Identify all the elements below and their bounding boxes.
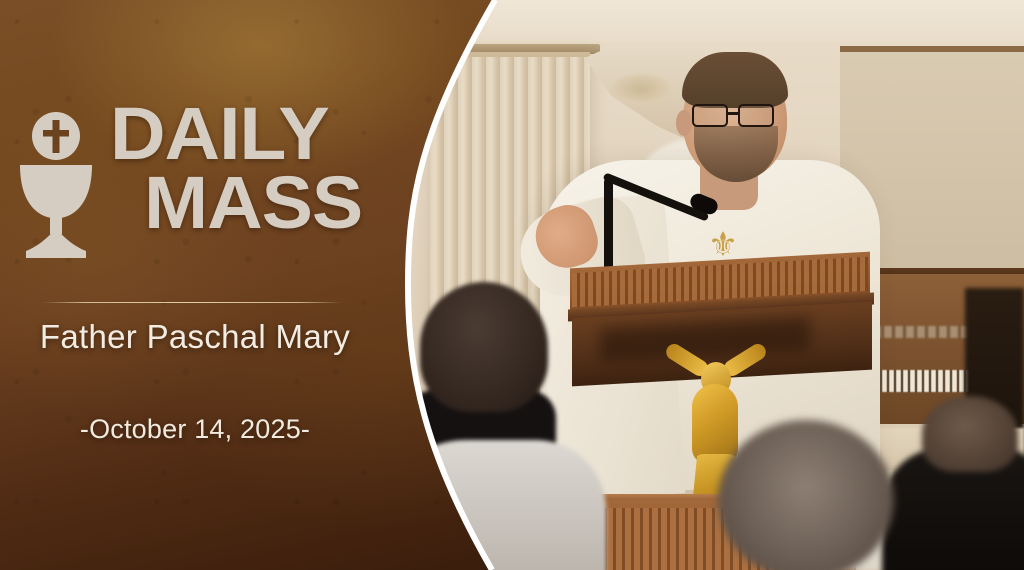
chapel-ceiling-band	[400, 0, 1024, 42]
eyeglass-lens-right	[738, 104, 774, 127]
episode-date: -October 14, 2025-	[0, 414, 390, 445]
title-line-mass: MASS	[144, 173, 402, 234]
title-panel-content: DAILY MASS Father Paschal Mary -October …	[0, 0, 400, 570]
congregant-head	[420, 282, 548, 412]
congregant-head	[922, 396, 1018, 472]
daily-mass-logo: DAILY MASS	[14, 104, 386, 264]
title-line-daily: DAILY	[110, 104, 403, 165]
corbel-carving-detail	[612, 74, 670, 104]
congregant-head	[718, 420, 894, 570]
daily-mass-title-card: ⚜	[0, 0, 1024, 570]
organ-stop-knobs	[862, 326, 982, 338]
chalice-with-host-icon	[14, 108, 98, 260]
microphone-stem	[604, 178, 613, 276]
eyeglass-lens-left	[692, 104, 728, 127]
title-divider	[42, 302, 342, 303]
eyeglasses-icon	[692, 104, 784, 128]
priest-ear	[676, 110, 692, 136]
foreground-congregant-center	[700, 420, 930, 570]
wordmark: DAILY MASS	[110, 104, 392, 233]
organ-keyboard	[868, 370, 978, 392]
presenter-name: Father Paschal Mary	[0, 318, 390, 356]
fleur-de-lis-icon: ⚜	[700, 228, 746, 262]
eyeglass-bridge	[728, 112, 738, 115]
